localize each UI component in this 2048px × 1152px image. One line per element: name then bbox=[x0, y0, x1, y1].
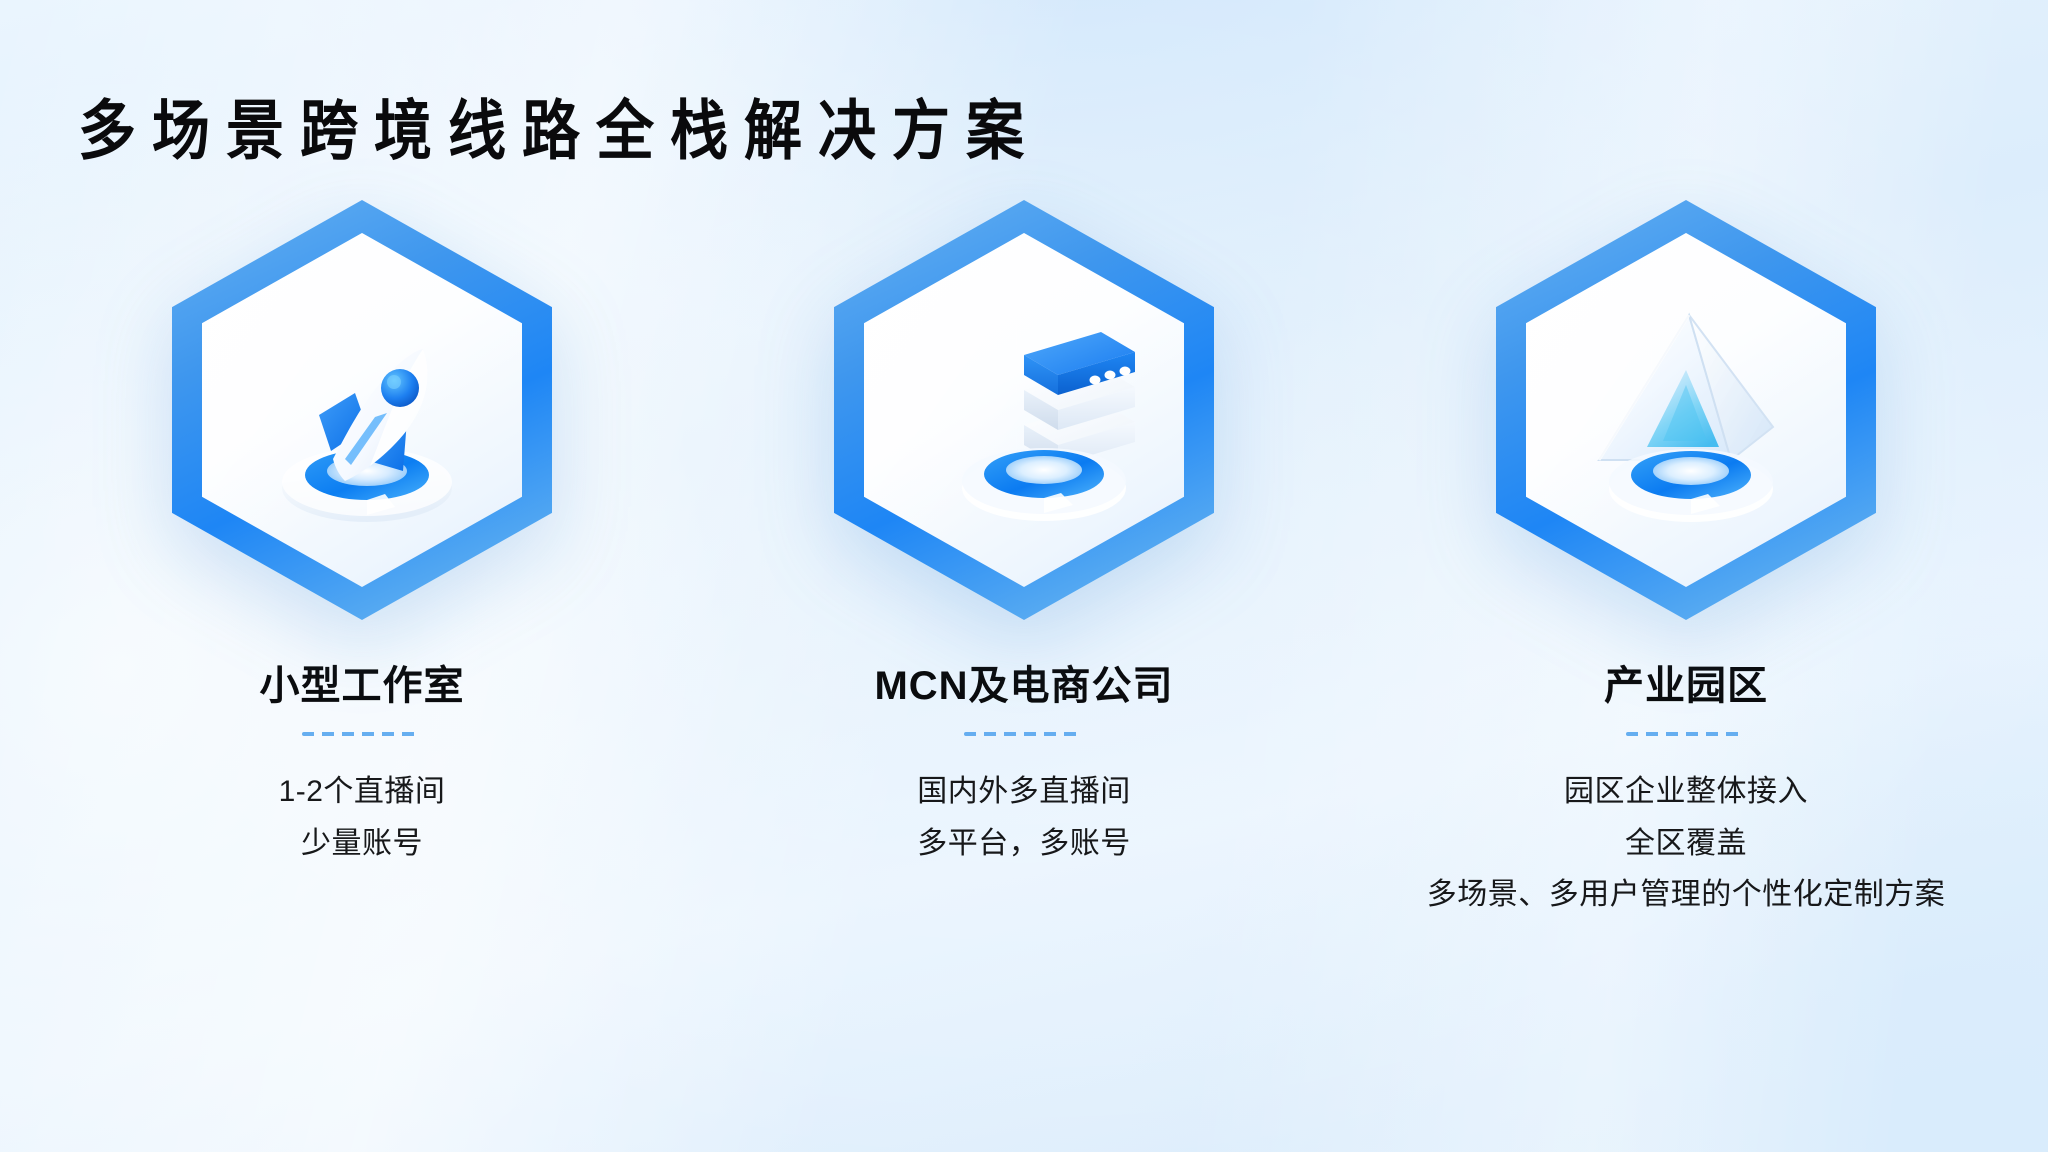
hexagon-badge bbox=[834, 200, 1214, 620]
card-description: 国内外多直播间 多平台，多账号 bbox=[917, 766, 1131, 869]
card-description-line: 国内外多直播间 bbox=[917, 766, 1131, 818]
card-divider bbox=[964, 732, 1084, 736]
rocket-launch-icon bbox=[227, 275, 497, 545]
card-description-line: 多场景、多用户管理的个性化定制方案 bbox=[1427, 869, 1946, 921]
solution-card[interactable]: 小型工作室 1-2个直播间 少量账号 bbox=[102, 200, 622, 869]
card-description-line: 全区覆盖 bbox=[1427, 818, 1946, 870]
card-description-line: 园区企业整体接入 bbox=[1427, 766, 1946, 818]
card-description-line: 1-2个直播间 bbox=[279, 766, 446, 818]
server-stack-icon bbox=[889, 275, 1159, 545]
solution-card-list: 小型工作室 1-2个直播间 少量账号 bbox=[0, 200, 2048, 921]
solution-card[interactable]: MCN及电商公司 国内外多直播间 多平台，多账号 bbox=[764, 200, 1284, 869]
card-divider bbox=[1626, 732, 1746, 736]
card-divider bbox=[302, 732, 422, 736]
card-title: 产业园区 bbox=[1604, 662, 1768, 710]
card-description-line: 少量账号 bbox=[279, 818, 446, 870]
hexagon-badge bbox=[172, 200, 552, 620]
page-title: 多场景跨境线路全栈解决方案 bbox=[78, 95, 1040, 170]
hexagon-badge bbox=[1496, 200, 1876, 620]
card-title: 小型工作室 bbox=[260, 662, 465, 710]
slide-canvas: 多场景跨境线路全栈解决方案 bbox=[0, 0, 2048, 1152]
glass-pyramid-icon bbox=[1551, 275, 1821, 545]
card-title: MCN及电商公司 bbox=[874, 662, 1173, 710]
card-description-line: 多平台，多账号 bbox=[917, 818, 1131, 870]
card-description: 1-2个直播间 少量账号 bbox=[279, 766, 446, 869]
card-description: 园区企业整体接入 全区覆盖 多场景、多用户管理的个性化定制方案 bbox=[1427, 766, 1946, 921]
solution-card[interactable]: 产业园区 园区企业整体接入 全区覆盖 多场景、多用户管理的个性化定制方案 bbox=[1426, 200, 1946, 921]
